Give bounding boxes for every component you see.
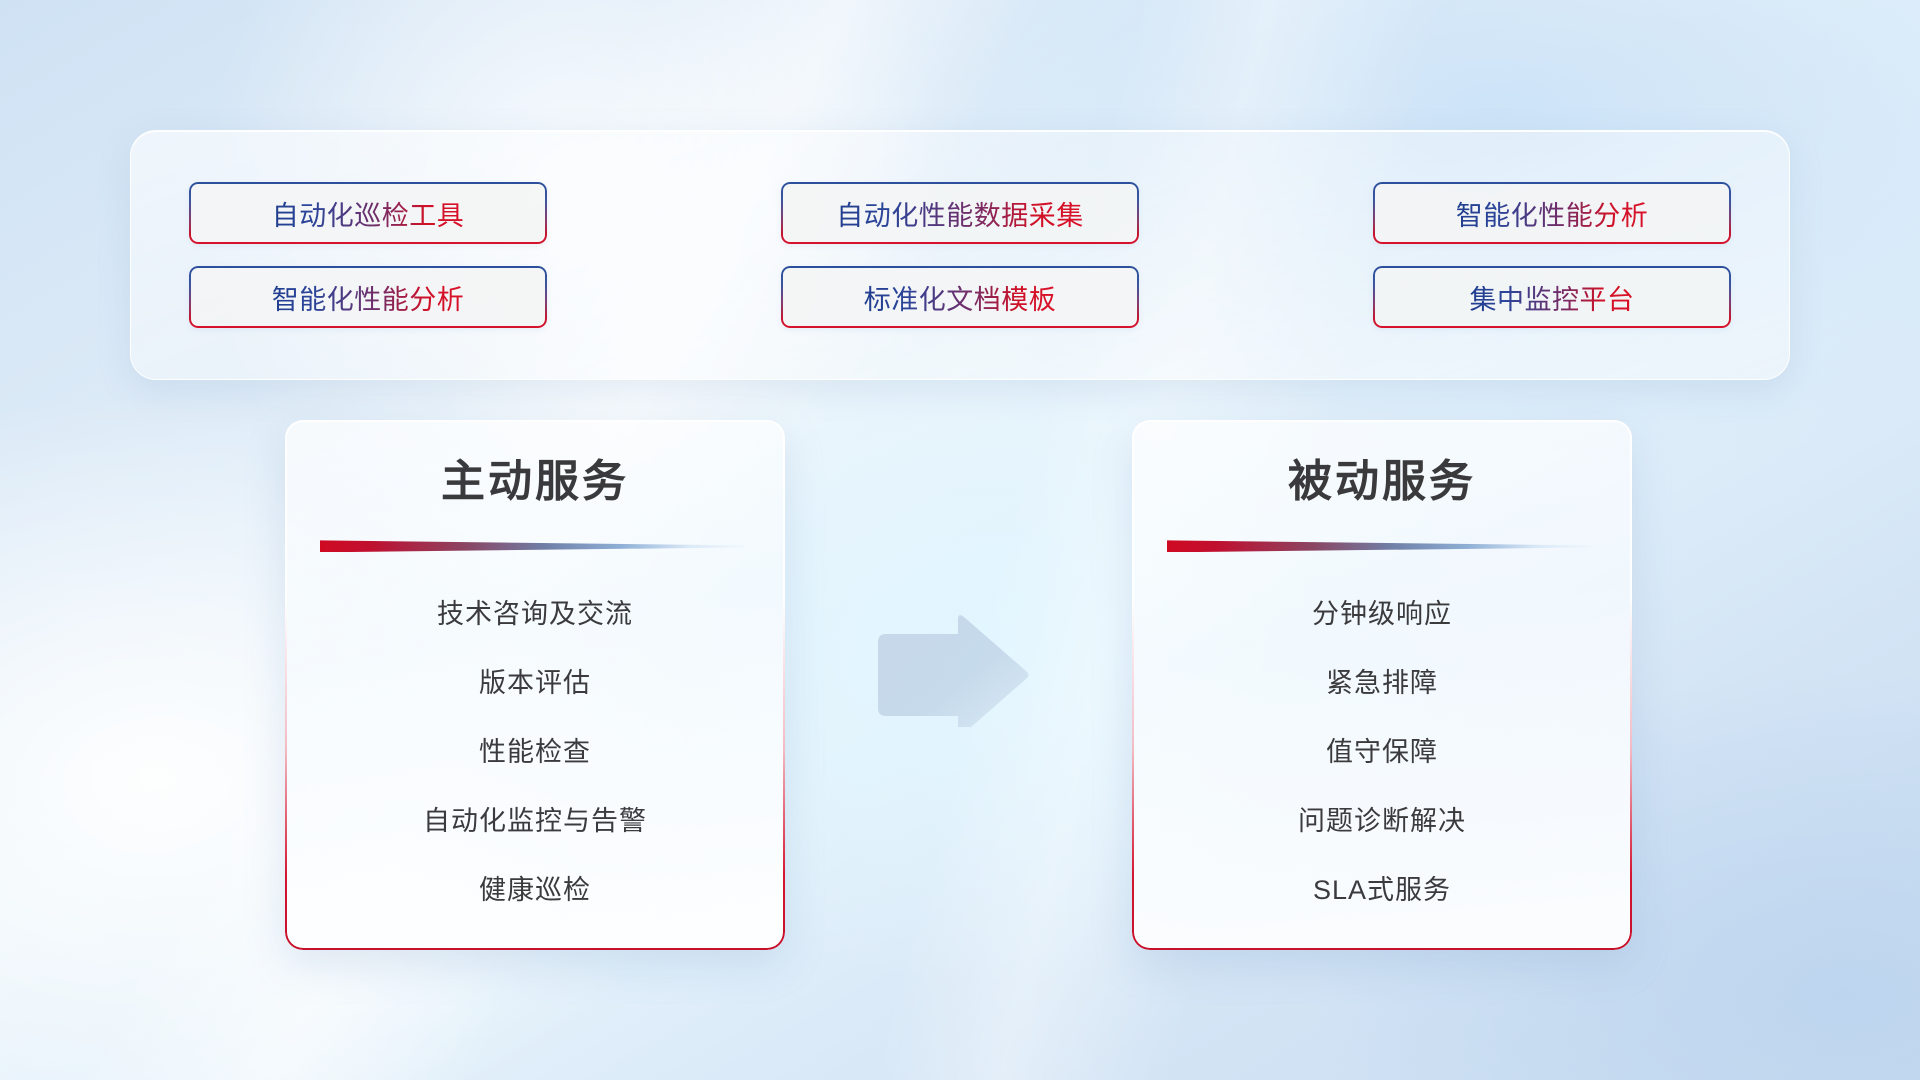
tag-label: 标准化文档模板 [864,278,1057,317]
tag-row-2: 智能化性能分析 标准化文档模板 集中监控平台 [189,266,1731,328]
list-item: 健康巡检 [479,856,591,925]
tag-label: 集中监控平台 [1470,278,1635,317]
tag-chip[interactable]: 智能化性能分析 [1373,182,1731,244]
tag-label: 智能化性能分析 [1456,194,1649,233]
service-card-reactive: 被动服务 分钟级响应 紧急排障 值守保障 问题诊断解决 SLA式服务 [1132,420,1632,950]
list-item: 值守保障 [1326,718,1438,787]
tag-row-1: 自动化巡检工具 自动化性能数据采集 智能化性能分析 [189,182,1731,244]
tag-label: 智能化性能分析 [272,278,465,317]
list-item: SLA式服务 [1313,856,1451,925]
tag-chip[interactable]: 标准化文档模板 [781,266,1139,328]
card-divider [320,540,750,552]
list-item: 技术咨询及交流 [437,580,633,649]
list-item: 性能检查 [479,718,591,787]
capability-tag-panel: 自动化巡检工具 自动化性能数据采集 智能化性能分析 智能化性能分析 标准化文档模… [130,130,1790,380]
list-item: 紧急排障 [1326,649,1438,718]
tag-chip[interactable]: 自动化巡检工具 [189,182,547,244]
tag-label: 自动化巡检工具 [272,194,465,233]
tag-chip[interactable]: 自动化性能数据采集 [781,182,1139,244]
right-arrow-icon [872,612,1032,727]
card-title: 主动服务 [441,458,629,506]
list-item: 分钟级响应 [1312,580,1452,649]
tag-chip[interactable]: 集中监控平台 [1373,266,1731,328]
list-item: 问题诊断解决 [1298,787,1466,856]
service-card-proactive: 主动服务 技术咨询及交流 版本评估 性能检查 自动化监控与告警 健康巡检 [285,420,785,950]
card-title: 被动服务 [1288,458,1476,506]
card-divider [1167,540,1597,552]
card-item-list: 分钟级响应 紧急排障 值守保障 问题诊断解决 SLA式服务 [1162,580,1602,925]
infographic-canvas: 自动化巡检工具 自动化性能数据采集 智能化性能分析 智能化性能分析 标准化文档模… [0,0,1920,1080]
card-item-list: 技术咨询及交流 版本评估 性能检查 自动化监控与告警 健康巡检 [315,580,755,925]
list-item: 版本评估 [479,649,591,718]
tag-chip[interactable]: 智能化性能分析 [189,266,547,328]
list-item: 自动化监控与告警 [423,787,647,856]
tag-label: 自动化性能数据采集 [836,194,1084,233]
